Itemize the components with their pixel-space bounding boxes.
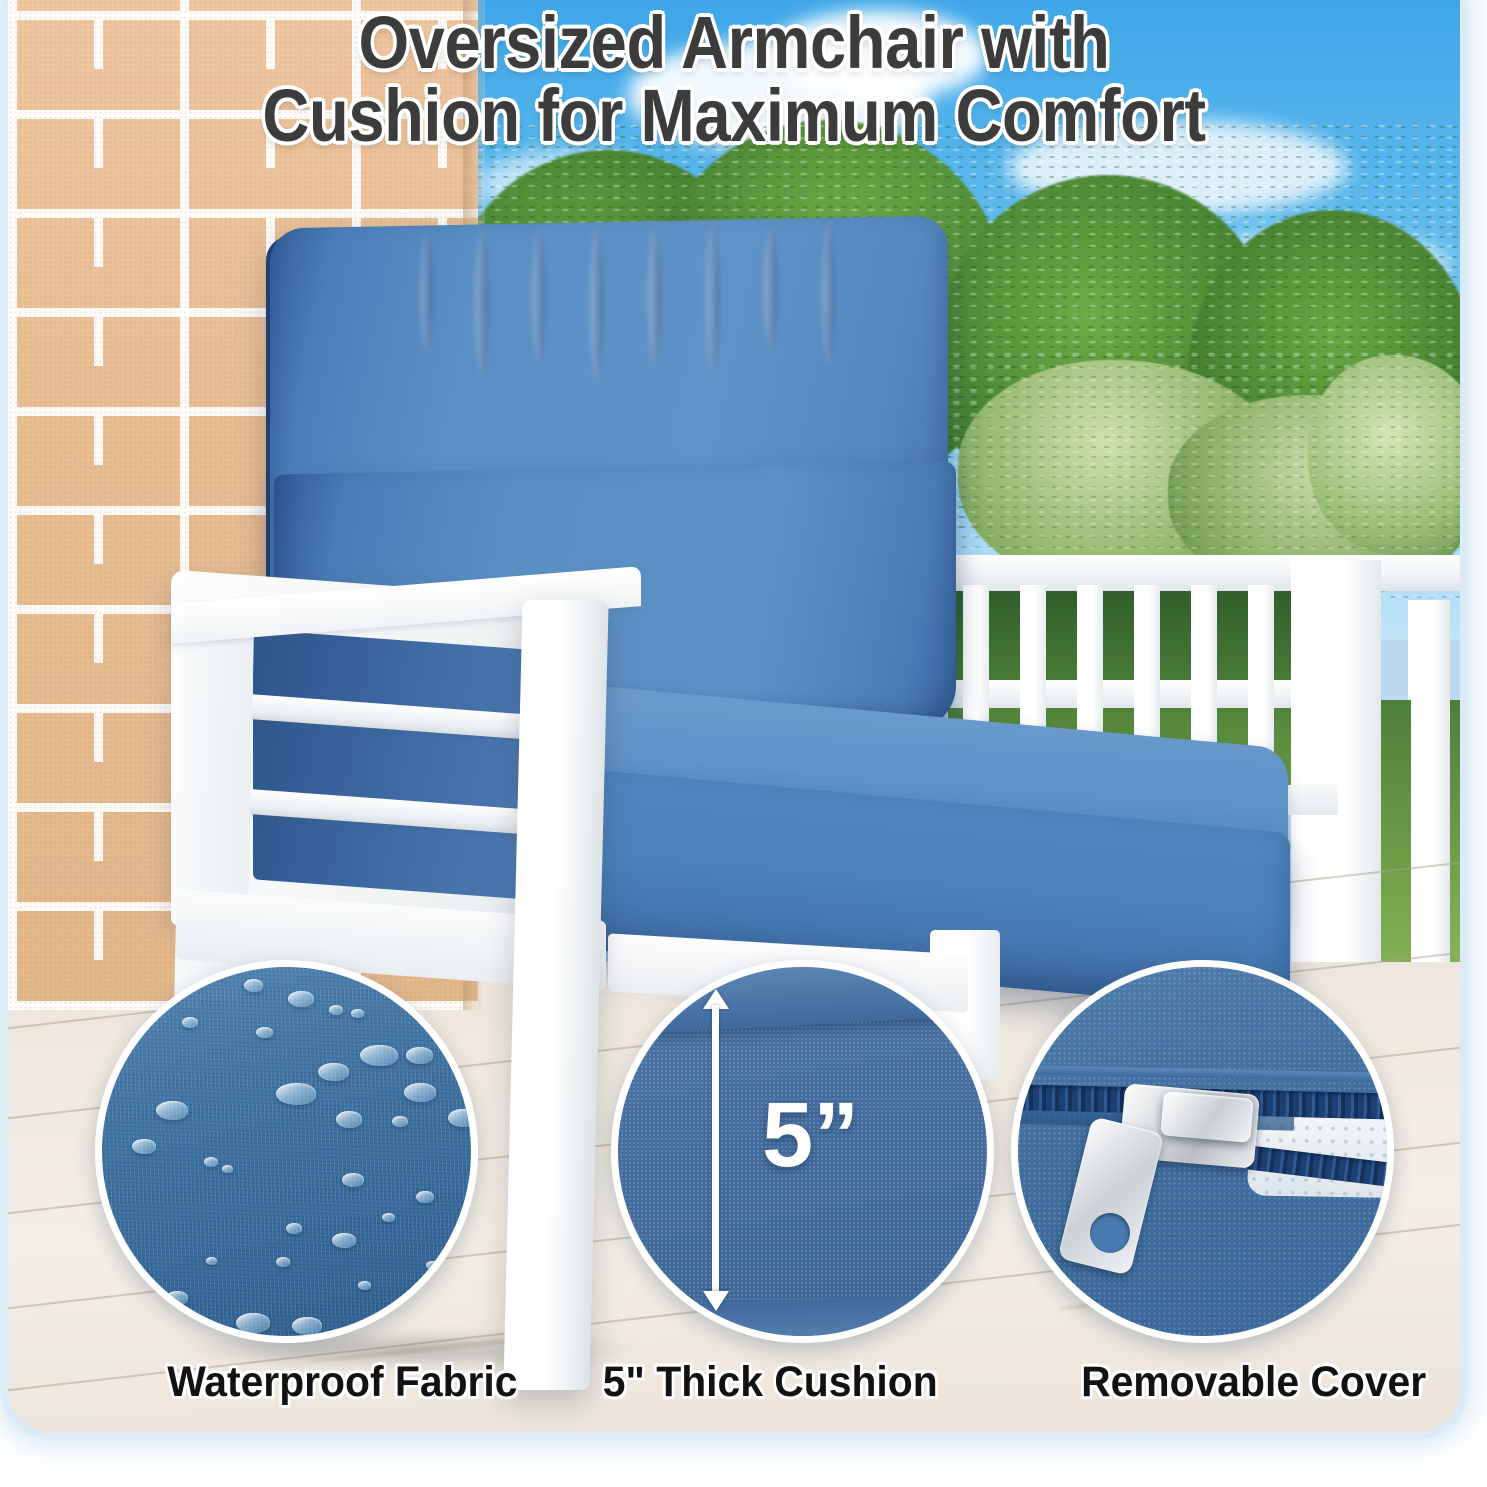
armrest-opening xyxy=(253,629,543,900)
headline-line-1: Oversized Armchair with xyxy=(358,1,1109,84)
dimension-arrow-head-bottom xyxy=(703,1291,729,1311)
waterproof-fabric-swatch xyxy=(96,961,477,1342)
armrest-front-leg xyxy=(503,600,608,1390)
zipper-slider-cap xyxy=(1160,1091,1253,1143)
product-photo: Oversized Armchair with Cushion for Maxi… xyxy=(8,0,1460,1432)
fabric-seam xyxy=(1011,1064,1394,1082)
product-infographic: Oversized Armchair with Cushion for Maxi… xyxy=(0,0,1487,1487)
cushion-top-edge xyxy=(611,960,994,1036)
cushion-thickness-swatch: 5” xyxy=(612,961,993,1342)
feature-label-thickness: 5" Thick Cushion xyxy=(603,1358,938,1407)
callout-waterproof-fabric xyxy=(95,960,478,1343)
cushion-bottom-edge xyxy=(611,1293,994,1343)
feature-label-waterproof: Waterproof Fabric xyxy=(167,1358,517,1407)
zipper-fabric-swatch xyxy=(1012,961,1393,1342)
callout-cushion-thickness: 5” xyxy=(611,960,994,1343)
headline-line-2: Cushion for Maximum Comfort xyxy=(95,79,1373,152)
callout-removable-cover xyxy=(1011,960,1394,1343)
feature-label-removable: Removable Cover xyxy=(1081,1358,1426,1407)
dimension-value-label: 5” xyxy=(762,1089,859,1181)
dimension-arrow-shaft xyxy=(712,1005,719,1295)
page-title: Oversized Armchair with Cushion for Maxi… xyxy=(95,6,1373,153)
